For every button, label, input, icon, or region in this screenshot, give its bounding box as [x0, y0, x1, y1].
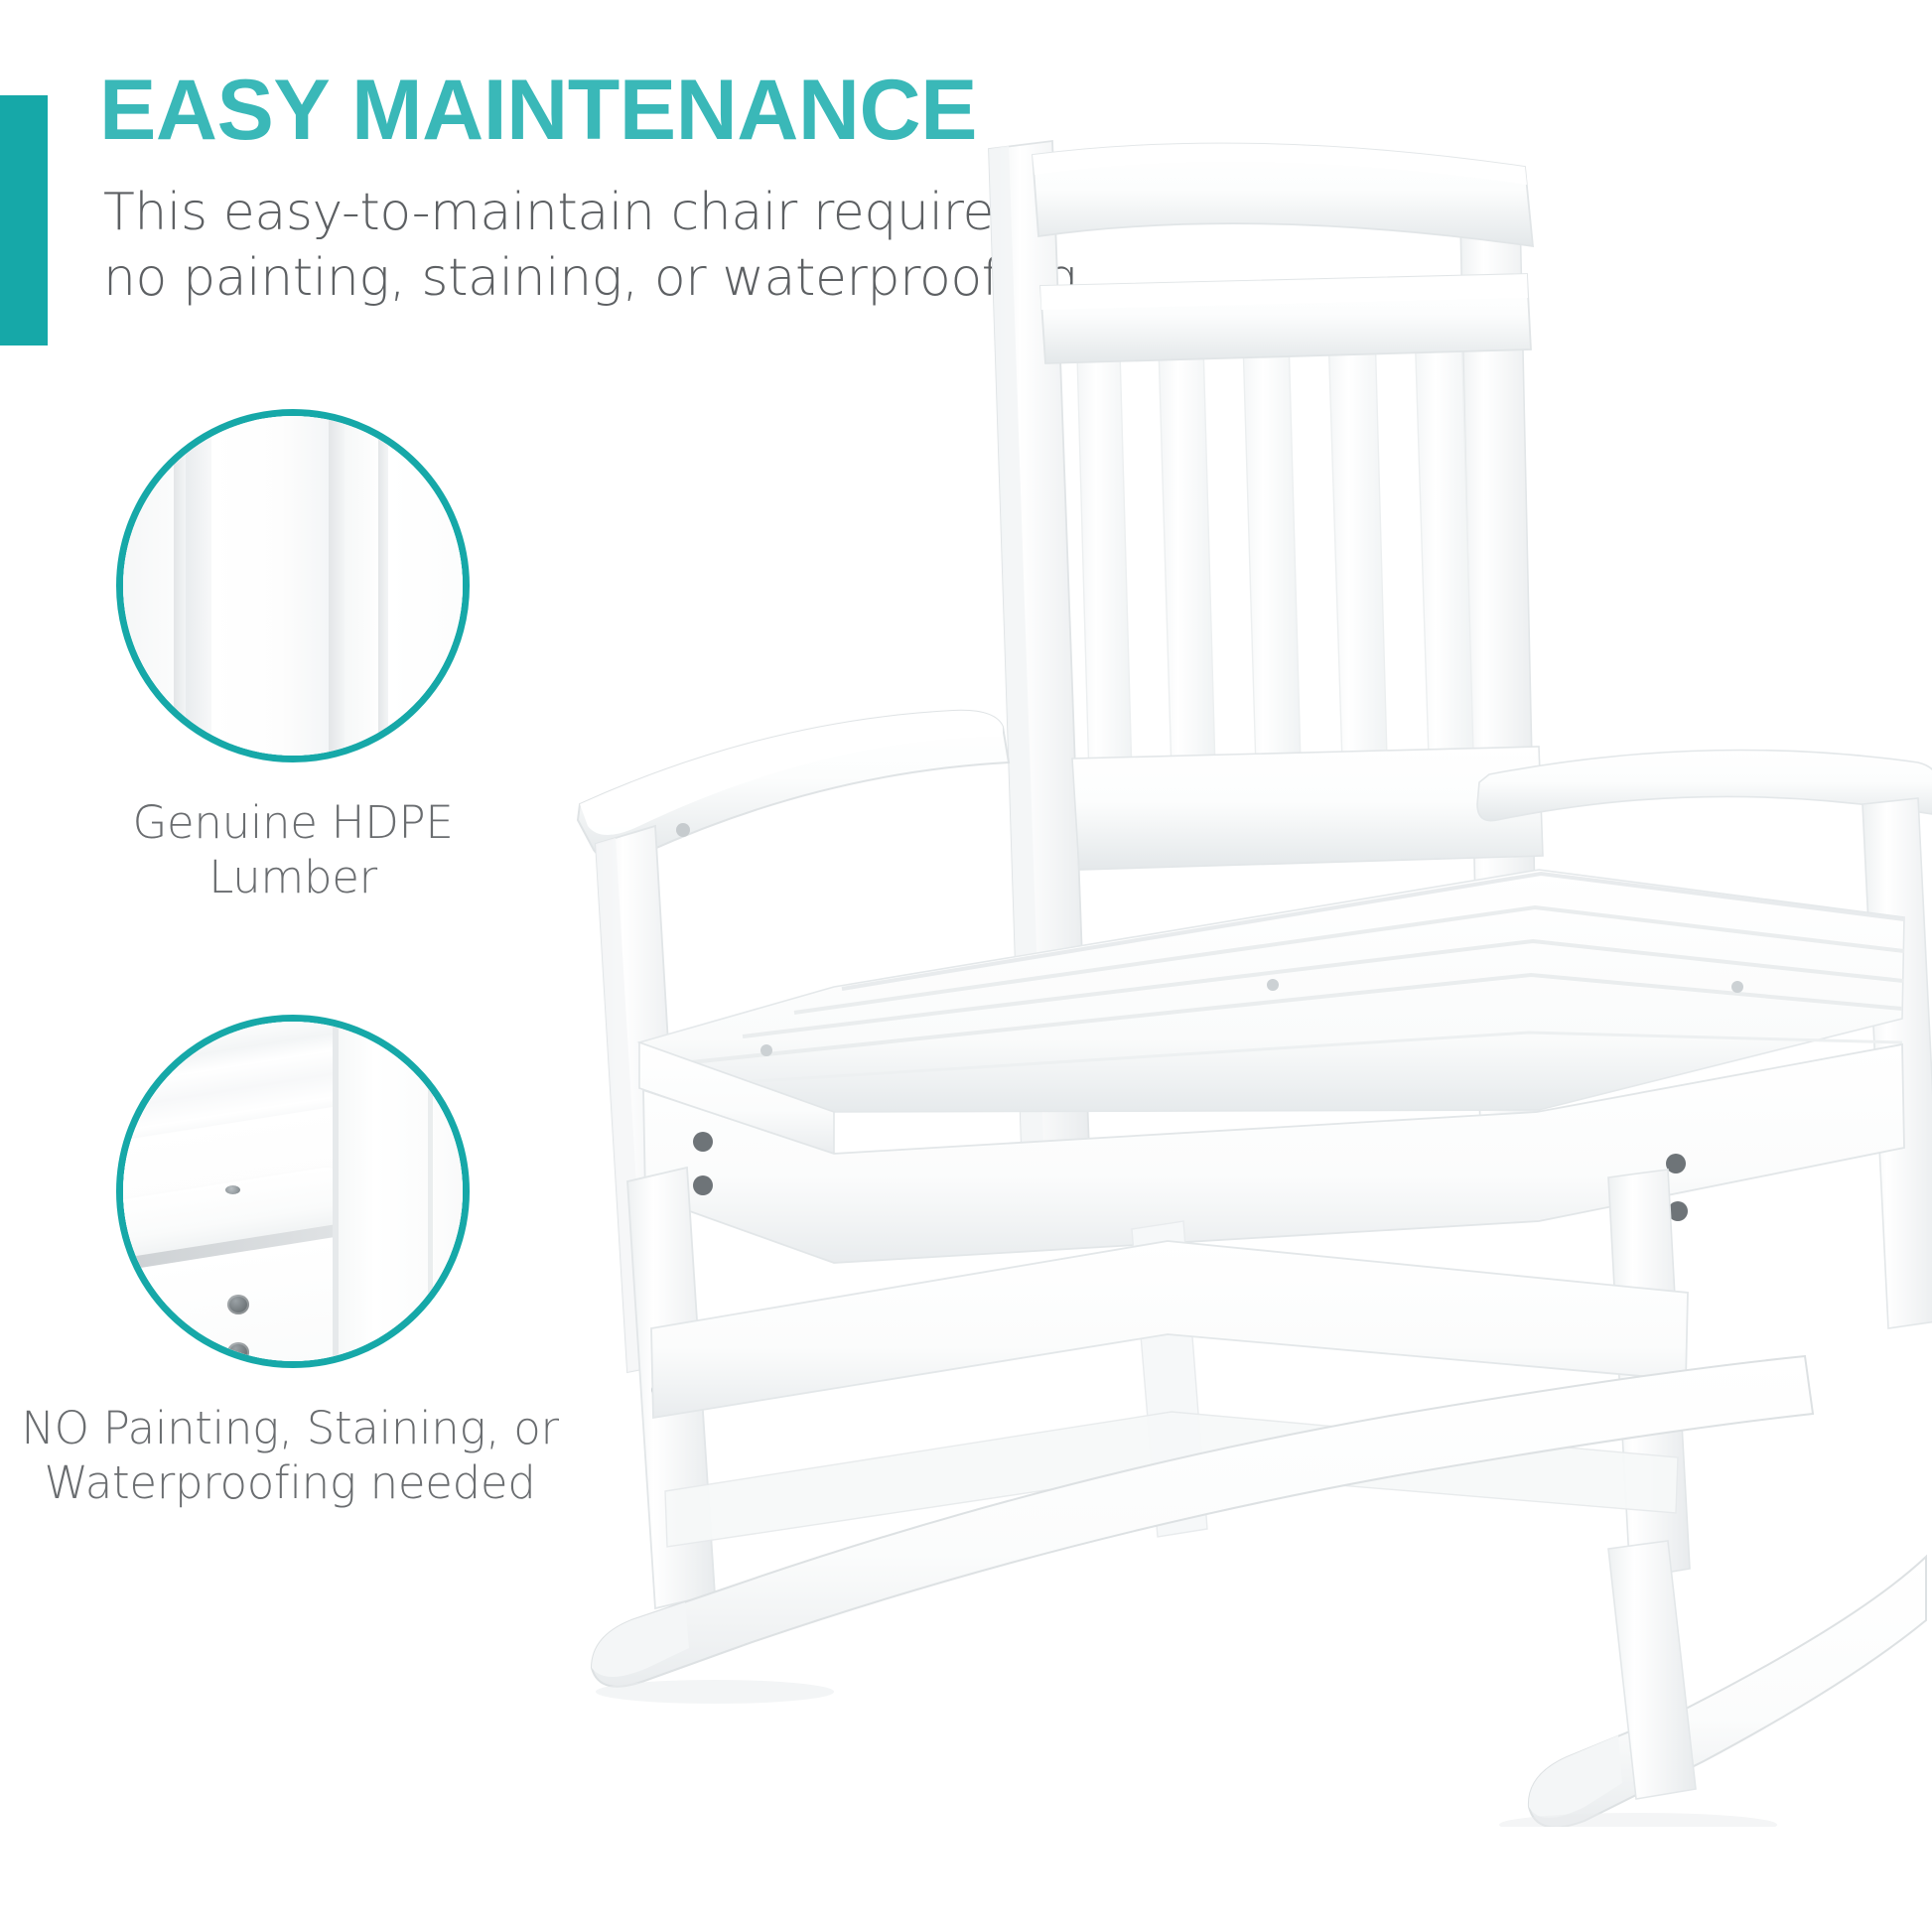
accent-bar: [0, 95, 48, 345]
screw-icon: [227, 1295, 249, 1314]
feature-caption: NO Painting, Staining, or Waterproofing …: [0, 1402, 598, 1511]
circle-zoom-vertical-slats-icon: [116, 409, 470, 762]
screw-icon: [693, 1132, 713, 1152]
infographic-canvas: EASY MAINTENANCE This easy-to-maintain c…: [0, 0, 1932, 1932]
lower-back-rail: [1072, 747, 1543, 870]
right-rocker-runner: [1529, 1557, 1926, 1827]
screw-icon: [225, 1185, 240, 1194]
screw-icon: [676, 823, 690, 837]
feature-no-finishing: NO Painting, Staining, or Waterproofing …: [79, 1015, 506, 1511]
feature-hdpe-lumber: Genuine HDPE Lumber: [79, 409, 506, 905]
upper-back-rail: [1040, 274, 1531, 363]
product-image-rocking-chair: [536, 119, 1932, 1827]
circle-zoom-arm-joint-icon: [116, 1015, 470, 1368]
screw-icon: [760, 1044, 772, 1056]
screw-icon: [227, 1342, 249, 1362]
rocking-chair-illustration: [536, 119, 1932, 1827]
screw-icon: [1267, 979, 1279, 991]
screw-icon: [1666, 1154, 1686, 1173]
feature-caption: Genuine HDPE Lumber: [79, 796, 506, 905]
screw-icon: [444, 1338, 458, 1351]
screw-icon: [693, 1175, 713, 1195]
arm-joint-closeup: [116, 1015, 470, 1368]
back-slats: [1077, 323, 1473, 778]
screw-icon: [1731, 981, 1743, 993]
back-slats-closeup: [116, 409, 470, 762]
crest-rail: [1033, 143, 1533, 246]
